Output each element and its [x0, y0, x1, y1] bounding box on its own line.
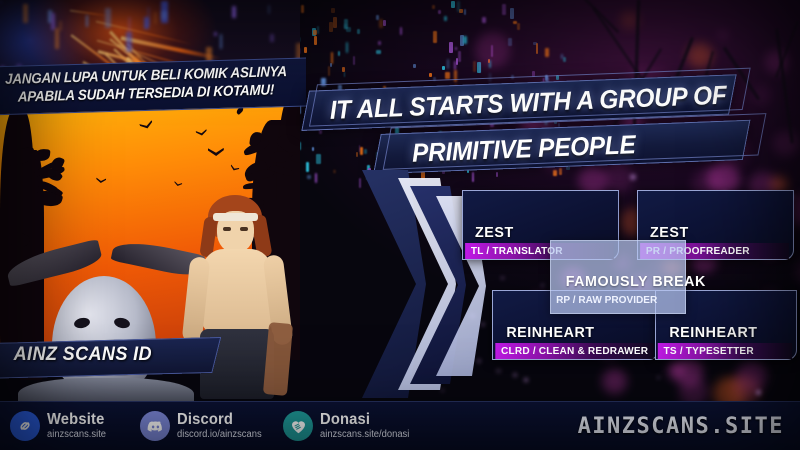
- credit-name: ZEST: [475, 224, 514, 241]
- credit-name: REINHEART: [669, 324, 757, 341]
- rain-dash: [317, 26, 319, 34]
- stage-light-bar: [144, 17, 148, 29]
- rain-dash: [442, 66, 446, 70]
- footer-link-website[interactable]: Website ainzscans.site: [10, 409, 110, 443]
- stage-light-bar: [270, 34, 274, 43]
- rain-dash: [329, 22, 333, 32]
- link-icon-circle: [10, 411, 40, 441]
- heart-hands-icon-circle: [283, 411, 313, 441]
- purchase-notice-banner: JANGAN LUPA UNTUK BELI KOMIK ASLINYA APA…: [0, 58, 306, 116]
- rain-dash: [378, 41, 381, 45]
- footer-bar: Website ainzscans.site Discord discord.i…: [0, 401, 800, 450]
- rain-dash: [333, 17, 337, 28]
- rain-dash: [445, 72, 449, 79]
- bokeh-circle: [475, 32, 510, 67]
- stage-light-bar: [105, 8, 111, 28]
- character-sash: [263, 322, 293, 396]
- rain-dash: [344, 19, 347, 28]
- rain-dash: [301, 5, 304, 13]
- stage-light-bar: [59, 21, 62, 30]
- footer-link-url: ainzscans.site: [47, 430, 106, 440]
- bokeh-speck: [513, 373, 517, 377]
- rain-dash: [338, 51, 340, 56]
- rain-dash: [438, 10, 441, 14]
- stage-light-bar: [86, 15, 88, 27]
- footer-link-url: discord.io/ainzscans: [177, 430, 262, 440]
- rain-dash: [429, 73, 433, 77]
- rain-dash: [383, 20, 386, 26]
- scanlation-logo-text: AINZ SCANS ID: [14, 344, 152, 366]
- rain-dash: [413, 64, 416, 68]
- footer-link-url: ainzscans.site/donasi: [320, 430, 409, 440]
- credit-name: ZEST: [650, 224, 689, 241]
- series-title: IT ALL STARTS WITH A GROUP OF PRIMITIVE …: [298, 73, 771, 183]
- rain-dash: [545, 48, 549, 57]
- bokeh-speck: [482, 323, 484, 325]
- rain-dash: [330, 63, 332, 67]
- bokeh-circle: [470, 0, 476, 6]
- footer-link-label: Website: [47, 412, 105, 428]
- rain-dash: [328, 66, 330, 76]
- rain-dash: [331, 8, 335, 13]
- bokeh-speck: [756, 390, 761, 395]
- bokeh-circle: [719, 31, 727, 39]
- rain-dash: [473, 61, 475, 72]
- rain-dash: [357, 29, 360, 34]
- rain-dash: [510, 8, 514, 19]
- rain-dash: [433, 31, 437, 42]
- rain-dash: [463, 36, 467, 44]
- rain-dash: [513, 21, 517, 24]
- rain-dash: [455, 47, 457, 50]
- rain-dash: [432, 5, 435, 10]
- rain-dash: [451, 1, 455, 8]
- rain-dash: [449, 42, 453, 52]
- rain-dash: [563, 57, 566, 62]
- rain-dash: [400, 27, 402, 35]
- rain-dash: [304, 47, 306, 54]
- credit-role-badge: CLRD / CLEAN & REDRAWER: [495, 343, 653, 359]
- stage-light-bar: [128, 17, 131, 33]
- bokeh-speck: [657, 376, 660, 379]
- stage-light-bar: [55, 28, 59, 49]
- character-headband: [213, 213, 258, 221]
- bokeh-circle: [674, 357, 703, 386]
- rain-dash: [517, 23, 520, 31]
- overlay-credit-name: FAMOUSLY BREAK: [566, 273, 706, 290]
- stage-light-bar: [161, 11, 167, 19]
- rain-dash: [314, 36, 316, 45]
- rain-dash: [536, 43, 538, 54]
- discord-icon: [146, 417, 165, 436]
- discord-icon-circle: [140, 411, 170, 441]
- stage-light-bar: [154, 12, 157, 24]
- stage-light-bar: [214, 32, 217, 37]
- character-torso: [202, 249, 272, 333]
- stage-light-bar: [232, 6, 236, 18]
- rain-dash: [457, 1, 461, 13]
- footer-link-label: Discord: [177, 412, 260, 428]
- link-icon: [16, 417, 34, 435]
- heart-hands-icon: [289, 417, 308, 436]
- rain-dash: [376, 50, 380, 54]
- bokeh-speck: [501, 277, 503, 279]
- rain-dash: [502, 4, 505, 16]
- stage-light-bar: [0, 0, 2, 4]
- rain-dash: [456, 58, 458, 64]
- footer-link-discord[interactable]: Discord discord.io/ainzscans: [140, 409, 267, 443]
- rain-dash: [444, 16, 446, 21]
- character-eye-left: [223, 227, 231, 231]
- overlay-credit-role: RP / RAW PROVIDER: [556, 294, 657, 306]
- rain-dash: [464, 9, 466, 15]
- rain-dash: [313, 30, 317, 35]
- footer-link-label: Donasi: [320, 412, 407, 428]
- rain-dash: [346, 42, 348, 53]
- stage-light-bar: [220, 34, 222, 49]
- bokeh-speck: [524, 378, 528, 382]
- rain-dash: [447, 59, 449, 69]
- rain-dash: [458, 51, 462, 62]
- bokeh-circle: [773, 131, 798, 156]
- bokeh-speck: [496, 369, 500, 373]
- credit-name: REINHEART: [506, 324, 594, 341]
- site-url: AINZSCANS.SITE: [578, 414, 784, 439]
- credit-role-badge: TS / TYPESETTER: [658, 343, 792, 359]
- character-eye-right: [240, 227, 248, 231]
- character-figure: [180, 195, 298, 410]
- scans-credit-page: JANGAN LUPA UNTUK BELI KOMIK ASLINYA APA…: [0, 0, 800, 450]
- footer-link-donasi[interactable]: Donasi ainzscans.site/donasi: [283, 409, 415, 443]
- rain-dash: [482, 17, 486, 23]
- rain-dash: [353, 56, 356, 64]
- rain-dash: [344, 72, 346, 77]
- rain-dash: [376, 15, 380, 21]
- stage-light-bar: [23, 4, 28, 23]
- stage-light-bar: [126, 32, 132, 52]
